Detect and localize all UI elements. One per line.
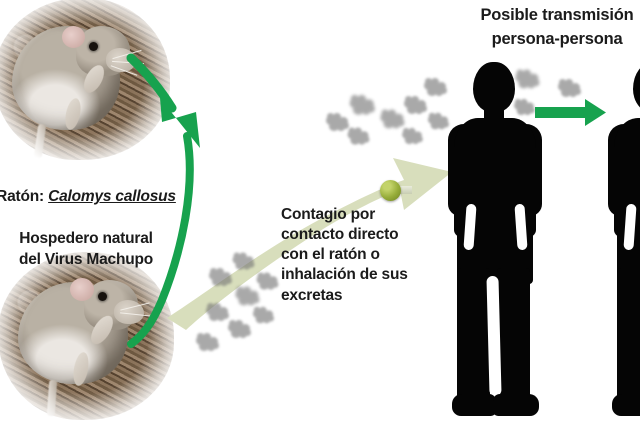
person-silhouette-right <box>600 62 640 418</box>
person-leg-left <box>617 268 640 410</box>
label-species-name: Calomys callosus <box>48 188 176 205</box>
label-mouse-prefix: Ratón: <box>0 188 48 205</box>
label-contagio-directo: Contagio por contacto directo con el rat… <box>281 205 431 306</box>
mouse-snout <box>114 300 144 324</box>
germ-icon <box>233 252 255 270</box>
mouse-eye <box>98 292 107 301</box>
diagram-canvas: Posible transmisión persona-persona Rató… <box>0 0 640 427</box>
person-shoe-left <box>452 394 496 416</box>
person-shoe-left <box>612 394 640 416</box>
germ-icon <box>253 307 273 324</box>
germ-icon <box>209 268 233 288</box>
germ-icon <box>257 272 279 290</box>
olive-node-icon <box>380 180 401 201</box>
label-mouse-host: Ratón: Calomys callosus Hospedero natura… <box>0 166 186 271</box>
germ-icon <box>404 96 428 116</box>
mouse-ear <box>70 278 94 301</box>
germ-icon <box>558 79 582 99</box>
germ-icon <box>228 320 252 340</box>
mouse-eye <box>89 42 98 51</box>
mouse-photo-bottom <box>0 252 174 420</box>
title-person-to-person-transmission: Posible transmisión persona-persona <box>452 4 640 52</box>
person-silhouette-left <box>440 62 550 418</box>
mouse-photo-top <box>0 0 170 160</box>
germ-icon <box>348 127 370 145</box>
label-mouse-host-lines: Hospedero natural del Virus Machupo <box>19 230 153 268</box>
germ-icon <box>196 333 220 353</box>
mouse-ear <box>62 26 85 48</box>
germ-icon <box>350 95 379 119</box>
person-shoe-right <box>493 394 539 416</box>
germ-icon <box>402 128 421 144</box>
germ-icon <box>326 113 350 133</box>
person-leg-left <box>457 268 490 410</box>
person-leg-right <box>497 268 530 410</box>
person-head <box>633 62 640 112</box>
germ-icon <box>206 303 230 323</box>
